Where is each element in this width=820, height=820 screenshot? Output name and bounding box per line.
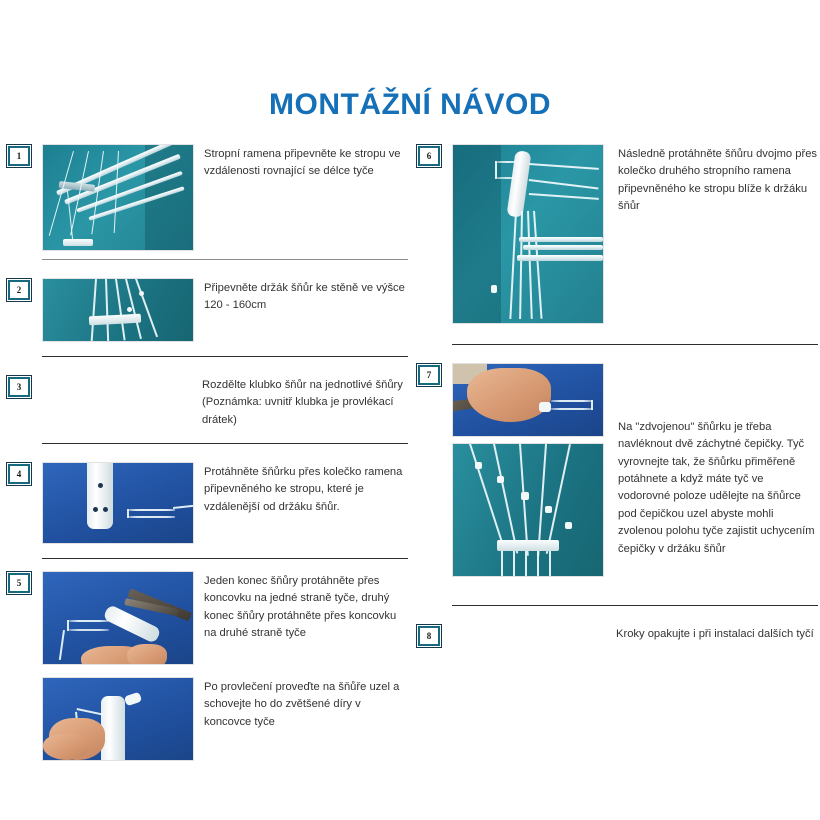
step-4-badge-cell: 4 (8, 458, 42, 484)
step-2-text: Připevněte držák šňůr ke stěně ve výšce … (194, 274, 408, 315)
step-number-badge: 3 (8, 377, 30, 397)
step-number-badge: 6 (418, 146, 440, 166)
page-title: MONTÁŽNÍ NÁVOD (0, 88, 820, 122)
step-4-media (42, 458, 194, 544)
step-4: 4 Protáhněte šňůrku přes kolečko ramena … (8, 458, 408, 544)
left-column: 1 Stropní ramena připevněte ke stropu ve… (8, 140, 408, 761)
step-5b-media (42, 673, 194, 761)
step-8-badge-cell: 8 (418, 620, 452, 646)
step-8-media-empty (452, 620, 602, 624)
step-7: 7 (418, 359, 818, 577)
step-number-badge: 8 (418, 626, 440, 646)
right-column: 6 Následně protáhněte šňůru dvoj (418, 140, 818, 646)
step-3-text: Rozdělte klubko šňůr na jednotlivé šňůry… (192, 371, 408, 429)
step-3-badge-cell: 3 (8, 371, 42, 397)
step-1-badge-cell: 1 (8, 140, 42, 166)
ceiling-arms-photo (42, 144, 194, 251)
step-6-text: Následně protáhněte šňůru dvojmo přes ko… (604, 140, 818, 215)
step-7-text: Na "zdvojenou" šňůrku je třeba navléknou… (604, 359, 818, 558)
step-5b-badge-cell (8, 673, 42, 679)
second-ceiling-arm-photo (452, 144, 604, 324)
step-1-text: Stropní ramena připevněte ke stropu ve v… (194, 140, 408, 181)
step-8: 8 Kroky opakujte i při instalaci dalších… (418, 620, 818, 646)
step-number-badge: 2 (8, 280, 30, 300)
step-1-media (42, 140, 194, 251)
step-number-badge: 4 (8, 464, 30, 484)
step-2-media (42, 274, 194, 342)
arm-pulley-photo (42, 462, 194, 544)
step-number-badge: 1 (8, 146, 30, 166)
step-5-media (42, 567, 194, 665)
step-7-media (452, 359, 604, 577)
step-6-badge-cell: 6 (418, 140, 452, 166)
step-5b: Po provlečení proveďte na šňůře uzel a s… (8, 673, 408, 761)
step-6: 6 Následně protáhněte šňůru dvoj (418, 140, 818, 324)
step-4-text: Protáhněte šňůrku přes kolečko ramena př… (194, 458, 408, 516)
step-8-text: Kroky opakujte i při instalaci dalších t… (602, 620, 818, 643)
knot-in-rod-end-photo (42, 677, 194, 761)
rod-end-pliers-photo (42, 571, 194, 665)
step-5: 5 Jeden konec šňůry protáhněte přes konc… (8, 567, 408, 665)
step-6-media (452, 140, 604, 324)
step-5b-text: Po provlečení proveďte na šňůře uzel a s… (194, 673, 408, 731)
step-number-badge: 7 (418, 365, 440, 385)
step-5-text: Jeden konec šňůry protáhněte přes koncov… (194, 567, 408, 642)
step-2: 2 Připevněte držák šňůr ke stěně ve výšc… (8, 274, 408, 342)
retaining-caps-hand-photo (452, 363, 604, 437)
step-number-badge: 5 (8, 573, 30, 593)
cord-holder-wall-photo (42, 278, 194, 342)
step-3: 3 Rozdělte klubko šňůr na jednotlivé šňů… (8, 371, 408, 429)
cords-with-caps-holder-photo (452, 443, 604, 577)
step-5-badge-cell: 5 (8, 567, 42, 593)
step-1: 1 Stropní ramena připevněte ke stropu ve… (8, 140, 408, 251)
step-2-badge-cell: 2 (8, 274, 42, 300)
step-7-badge-cell: 7 (418, 359, 452, 385)
step-3-media-empty (42, 371, 192, 375)
